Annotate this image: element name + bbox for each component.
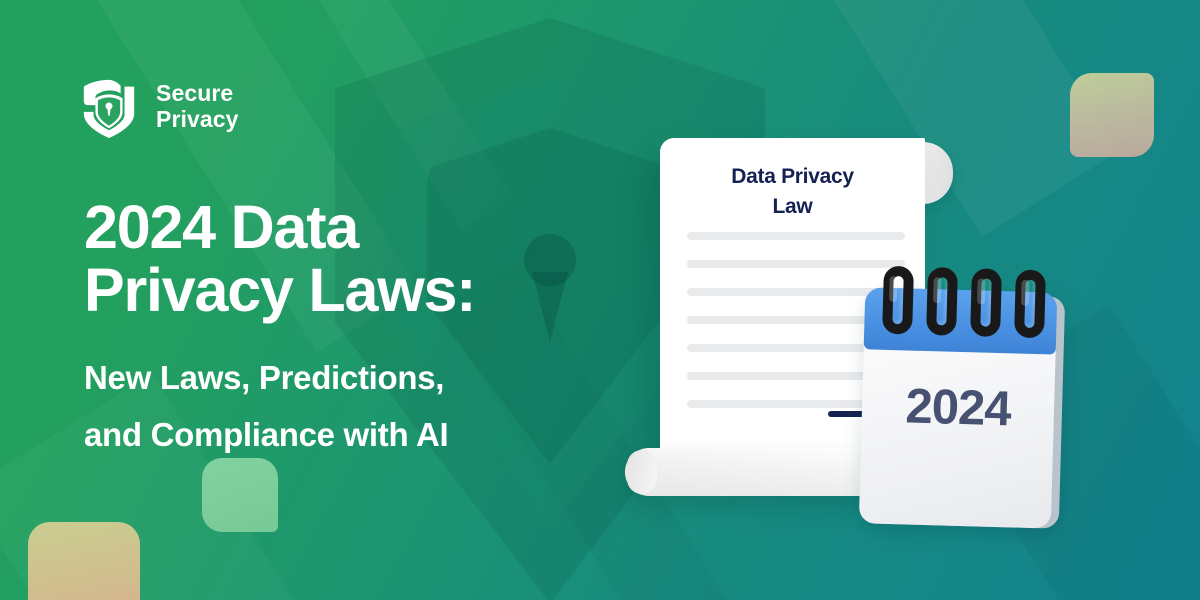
- page-title-line1: 2024 Data: [84, 196, 644, 259]
- page-title-line2: Privacy Laws:: [84, 259, 644, 322]
- page-subtitle: New Laws, Predictions, and Compliance wi…: [84, 349, 644, 464]
- document-title: Data Privacy Law: [660, 162, 925, 222]
- decor-square-bottom-left-green: [202, 458, 278, 532]
- page-subtitle-line2: and Compliance with AI: [84, 406, 644, 463]
- calendar-ring-icon: [970, 268, 1002, 337]
- calendar-ring-icon: [1014, 269, 1046, 338]
- calendar-illustration: 2024: [859, 287, 1066, 532]
- calendar-ring-icon: [882, 266, 914, 335]
- document-text-line: [687, 260, 905, 268]
- page-subtitle-line1: New Laws, Predictions,: [84, 349, 644, 406]
- decor-square-top-right: [1070, 73, 1154, 157]
- calendar-year: 2024: [861, 377, 1054, 438]
- hero-banner: Secure Privacy 2024 Data Privacy Laws: N…: [0, 0, 1200, 600]
- brand-name-line1: Secure: [156, 81, 239, 107]
- shield-keyhole-icon: [78, 76, 140, 138]
- document-text-line: [687, 232, 905, 240]
- calendar-ring-icon: [926, 267, 958, 336]
- document-title-line2: Law: [660, 192, 925, 222]
- headline-block: 2024 Data Privacy Laws: New Laws, Predic…: [84, 196, 644, 464]
- decor-square-bottom-left-tan: [28, 522, 140, 600]
- document-title-line1: Data Privacy: [660, 162, 925, 192]
- calendar-body: 2024: [859, 339, 1056, 528]
- brand-name: Secure Privacy: [156, 81, 239, 133]
- page-title: 2024 Data Privacy Laws:: [84, 196, 644, 323]
- brand-logo[interactable]: Secure Privacy: [78, 76, 239, 138]
- brand-name-line2: Privacy: [156, 107, 239, 133]
